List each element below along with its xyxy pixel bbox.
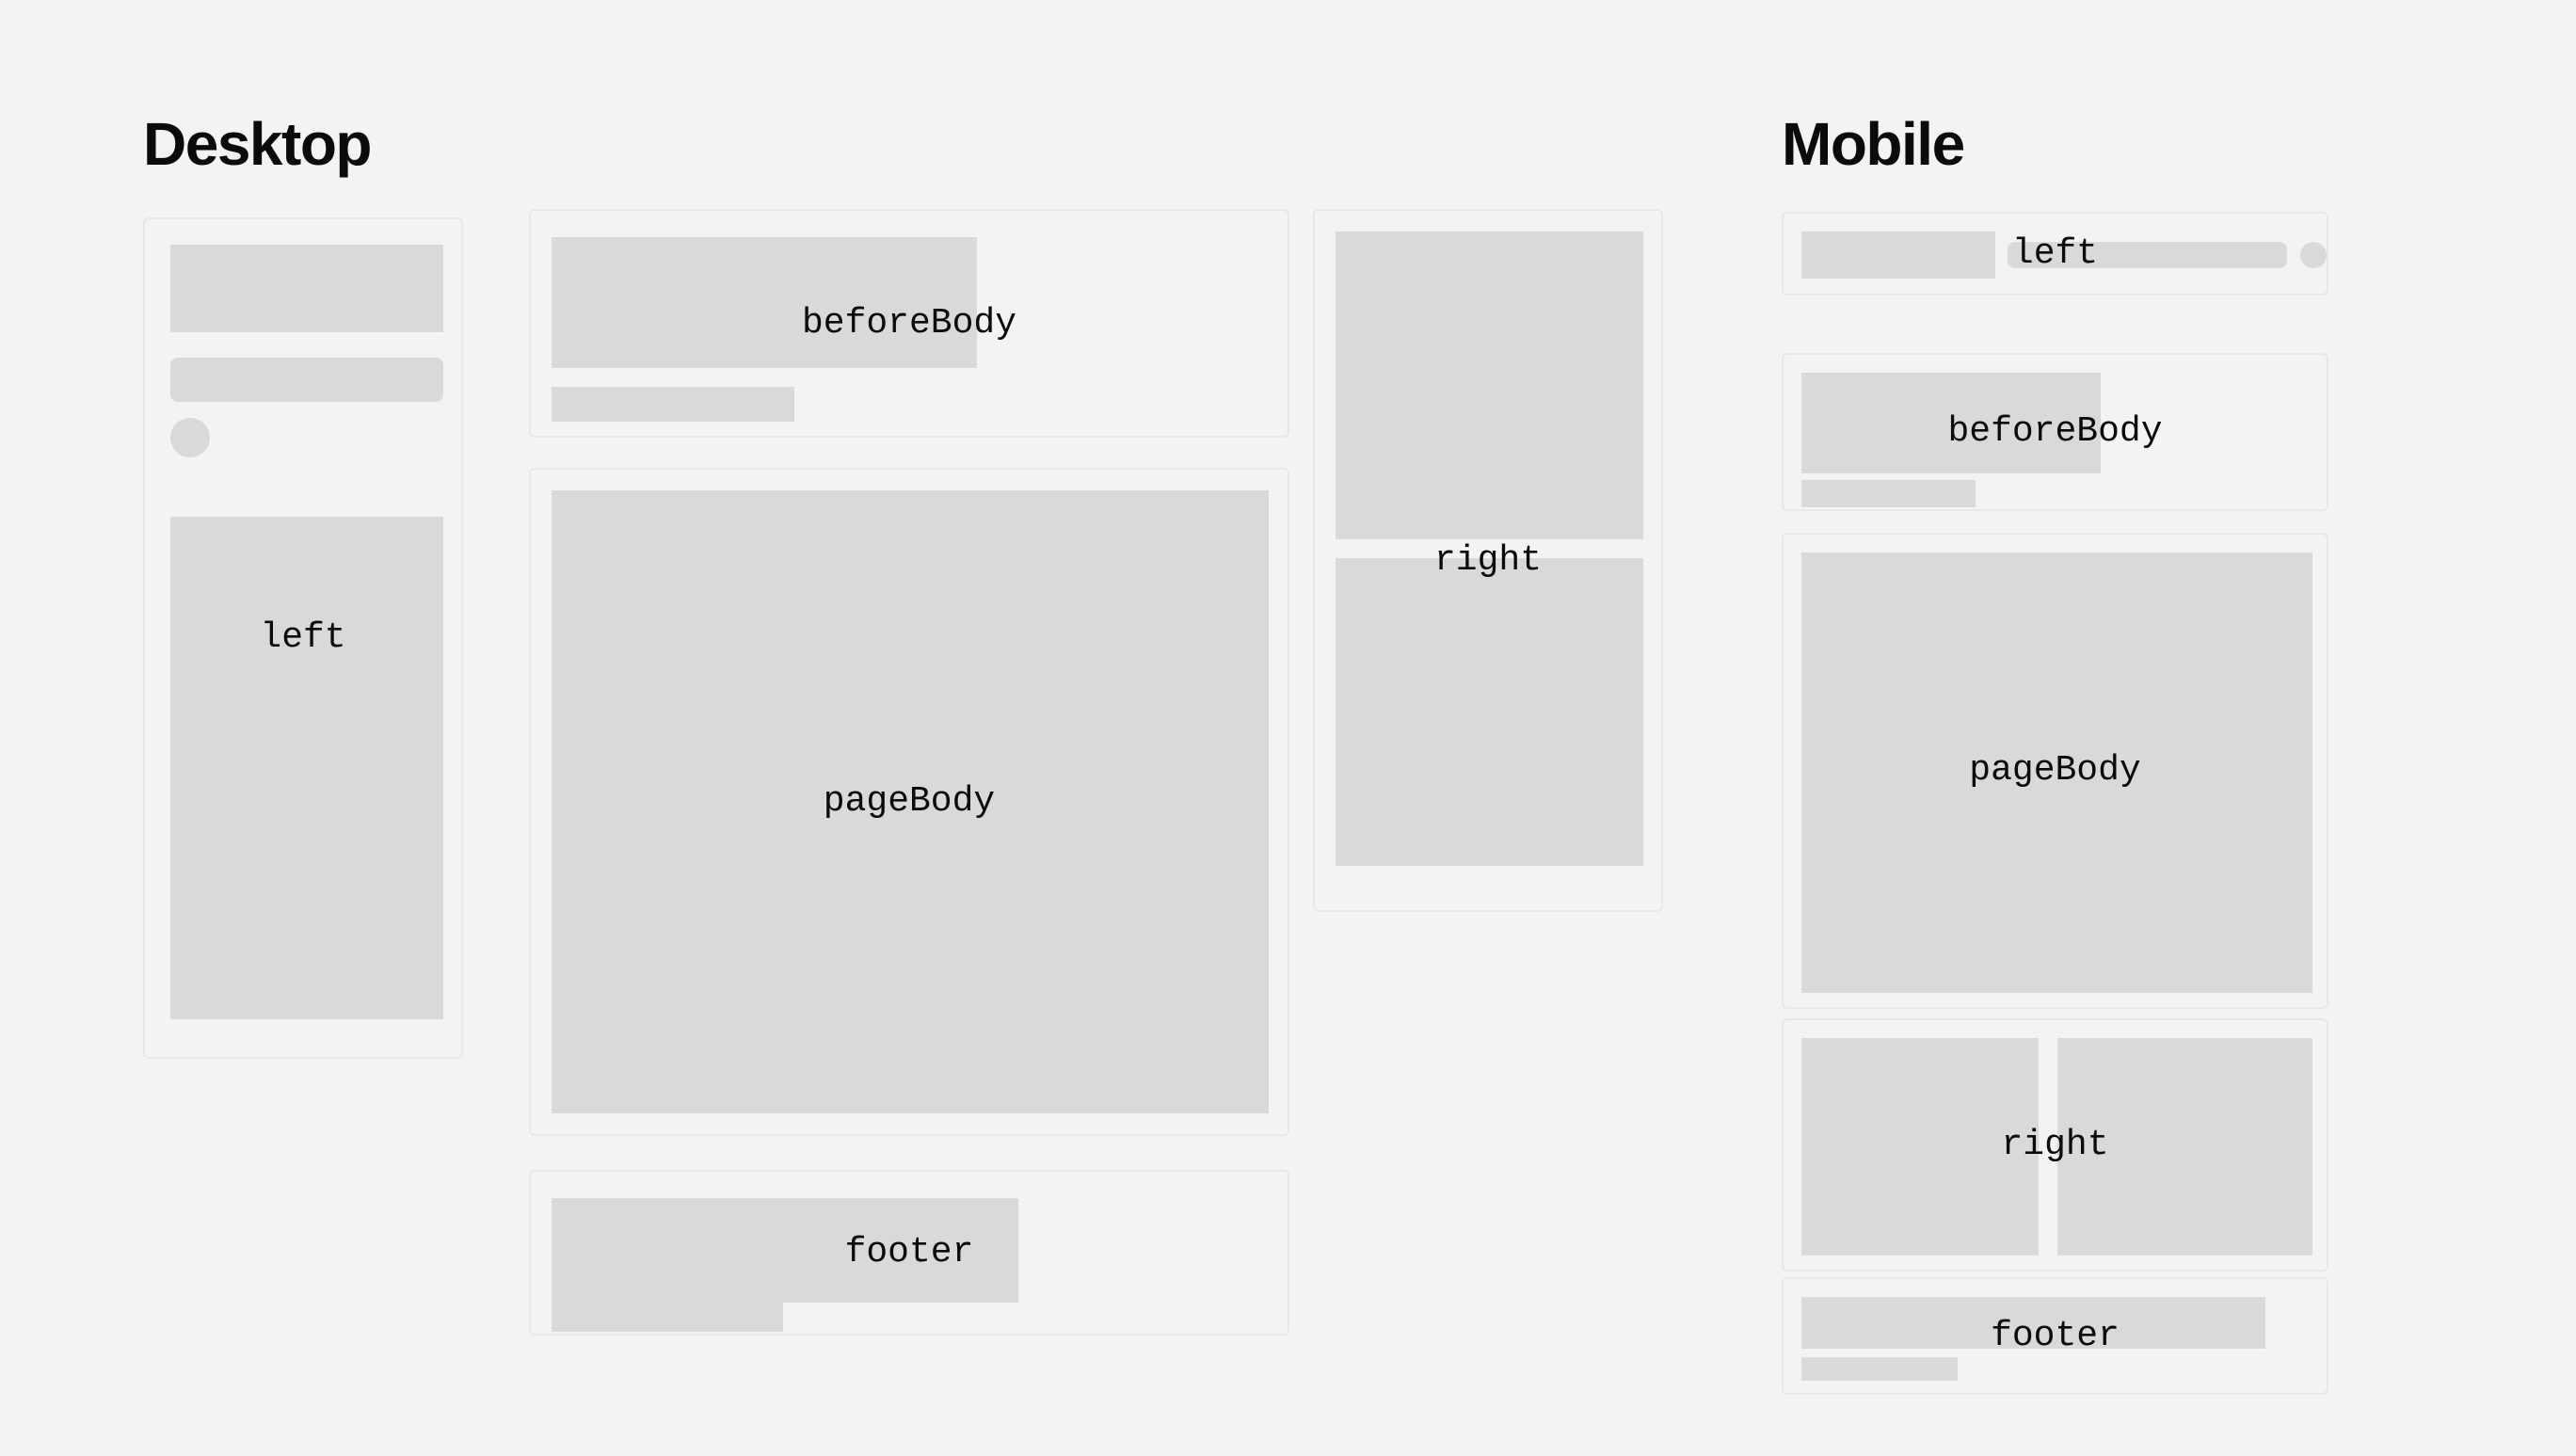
- mobile-right-placeholder-block-2: [2057, 1038, 2312, 1256]
- desktop-footer-placeholder-block: [552, 1198, 1018, 1303]
- desktop-page-body-region-panel[interactable]: [529, 468, 1289, 1136]
- desktop-footer-placeholder-bar: [552, 1297, 783, 1332]
- desktop-page-body-placeholder-block: [552, 490, 1269, 1113]
- mobile-footer-region-panel[interactable]: [1782, 1277, 2328, 1395]
- mobile-before-body-placeholder-bar: [1801, 480, 1976, 507]
- desktop-left-placeholder-block-2: [170, 517, 443, 1019]
- desktop-left-placeholder-bar: [170, 358, 443, 402]
- desktop-footer-region-panel[interactable]: [529, 1170, 1289, 1336]
- desktop-right-region-panel[interactable]: [1313, 209, 1663, 912]
- mobile-left-placeholder-avatar-circle: [2300, 242, 2327, 268]
- mobile-left-placeholder-bar: [2008, 242, 2287, 268]
- desktop-section-heading: Desktop: [143, 114, 371, 174]
- mobile-section-heading: Mobile: [1782, 114, 1964, 174]
- desktop-left-placeholder-avatar-circle: [170, 418, 210, 457]
- desktop-before-body-placeholder-bar: [552, 387, 794, 422]
- desktop-left-region-panel[interactable]: [143, 217, 463, 1059]
- mobile-page-body-region-panel[interactable]: [1782, 533, 2328, 1009]
- mobile-before-body-placeholder-block: [1801, 373, 2101, 473]
- mobile-right-placeholder-block-1: [1801, 1038, 2039, 1256]
- mobile-footer-placeholder-bar: [1801, 1357, 1958, 1381]
- desktop-right-placeholder-block-1: [1336, 232, 1643, 539]
- layout-preview-stage: Desktop left beforeBody pageBody right f…: [0, 0, 2576, 1456]
- mobile-left-placeholder-block-1: [1801, 232, 1995, 279]
- desktop-before-body-placeholder-block: [552, 237, 977, 368]
- desktop-right-placeholder-block-2: [1336, 558, 1643, 866]
- desktop-left-placeholder-block-1: [170, 245, 443, 332]
- mobile-before-body-region-panel[interactable]: [1782, 353, 2328, 511]
- desktop-before-body-region-panel[interactable]: [529, 209, 1289, 438]
- mobile-left-region-panel[interactable]: [1782, 212, 2328, 296]
- mobile-footer-placeholder-block: [1801, 1297, 2265, 1349]
- mobile-right-region-panel[interactable]: [1782, 1018, 2328, 1272]
- mobile-page-body-placeholder-block: [1801, 552, 2312, 993]
